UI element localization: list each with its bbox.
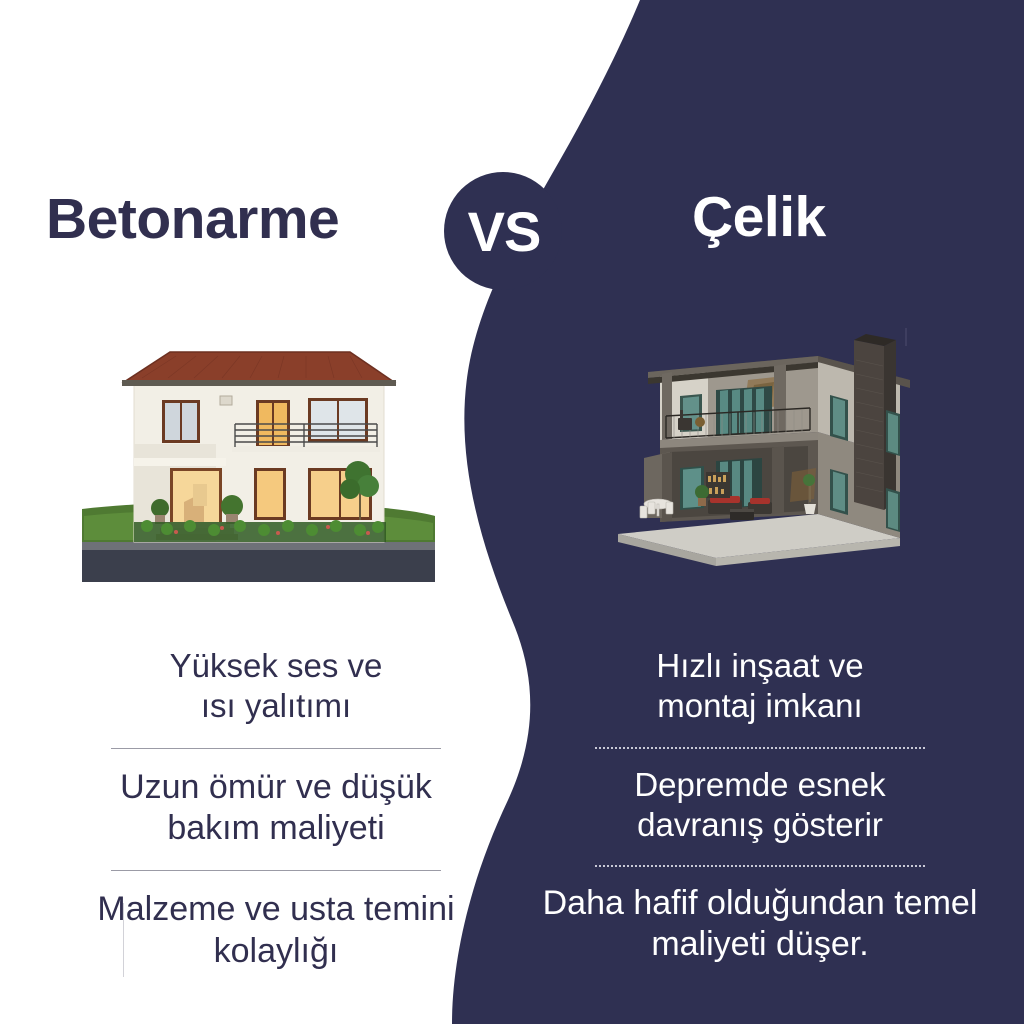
feature-line: maliyeti düşer.	[500, 924, 1020, 965]
page-title-right: Çelik	[692, 184, 826, 250]
vs-badge: VS	[448, 196, 560, 266]
divider-dotted	[595, 747, 925, 749]
house-image-steel	[604, 306, 916, 568]
feature-line: Daha hafif olduğundan temel	[500, 883, 1020, 924]
feature-line: Malzeme ve usta temini	[16, 889, 536, 930]
divider-dotted	[595, 865, 925, 867]
feature-line: Uzun ömür ve düşük	[16, 767, 536, 808]
feature-item: Malzeme ve usta temini kolaylığı	[16, 889, 536, 972]
feature-line: kolaylığı	[16, 931, 536, 972]
feature-line: montaj imkanı	[500, 686, 1020, 726]
feature-line: Hızlı inşaat ve	[500, 646, 1020, 686]
divider-solid	[111, 870, 441, 871]
feature-item: Yüksek ses ve ısı yalıtımı	[16, 646, 536, 727]
infographic-canvas: Betonarme VS Çelik	[0, 0, 1024, 1024]
feature-list-steel: Hızlı inşaat ve montaj imkanı Depremde e…	[500, 646, 1020, 966]
feature-line: bakım maliyeti	[16, 808, 536, 849]
feature-item: Depremde esnek davranış gösterir	[500, 765, 1020, 846]
feature-list-concrete: Yüksek ses ve ısı yalıtımı Uzun ömür ve …	[16, 646, 536, 972]
page-title-left: Betonarme	[46, 186, 339, 252]
feature-line: Yüksek ses ve	[16, 646, 536, 686]
scan-artifact-line	[123, 903, 124, 977]
feature-item: Daha hafif olduğundan temel maliyeti düş…	[500, 883, 1020, 966]
house-image-concrete	[72, 334, 445, 582]
feature-item: Hızlı inşaat ve montaj imkanı	[500, 646, 1020, 727]
feature-item: Uzun ömür ve düşük bakım maliyeti	[16, 767, 536, 850]
feature-line: ısı yalıtımı	[16, 686, 536, 726]
divider-solid	[111, 748, 441, 749]
feature-line: davranış gösterir	[500, 805, 1020, 845]
feature-line: Depremde esnek	[500, 765, 1020, 805]
